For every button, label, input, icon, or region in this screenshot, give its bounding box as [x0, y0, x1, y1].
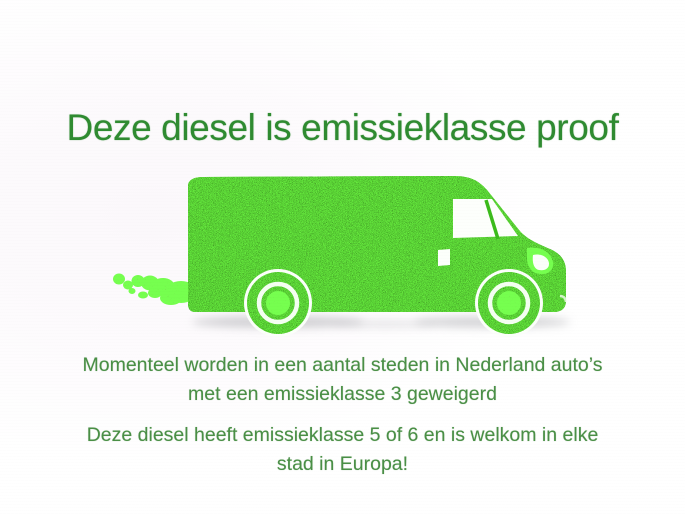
body-paragraph-1: Momenteel worden in een aantal steden in…	[0, 351, 685, 409]
body-line: Deze diesel heeft emissieklasse 5 of 6 e…	[0, 421, 685, 450]
body-line: Momenteel worden in een aantal steden in…	[0, 351, 685, 380]
door-handle	[438, 249, 450, 266]
poster-canvas: Deze diesel is emissieklasse proof Momen…	[0, 0, 685, 514]
exhaust-plume	[113, 274, 197, 306]
page-title: Deze diesel is emissieklasse proof	[0, 106, 685, 150]
body-paragraph-2: Deze diesel heeft emissieklasse 5 of 6 e…	[0, 421, 685, 479]
body-line: met een emissieklasse 3 geweigerd	[0, 380, 685, 409]
body-line: stad in Europa!	[0, 450, 685, 479]
front-wheel	[475, 269, 543, 337]
rear-wheel	[244, 269, 312, 337]
